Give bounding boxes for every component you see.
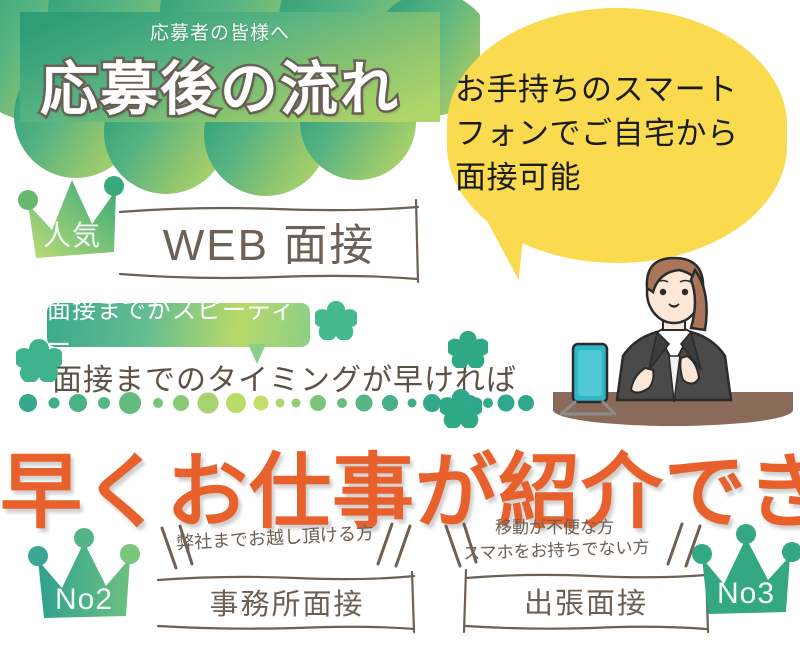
crown-no2: No2 [26,528,142,628]
woman-video-interview-illustration [545,252,800,427]
dotted-divider-right [480,390,540,414]
flower-icon [315,300,357,340]
visit-interview-box: 出張面接 [462,570,710,632]
office-interview-box: 事務所面接 [156,572,418,632]
bubble-line-2: フォンでご自宅から [455,112,785,156]
flyer-canvas: 応募者の皆様へ 応募後の流れ お手持ちのスマート フォンでご自宅から 面接可能 [0,0,800,636]
web-interview-box: WEB 面接 [116,200,422,282]
visit-interview-label: 出張面接 [524,580,648,622]
speech-bubble-text: お手持ちのスマート フォンでご自宅から 面接可能 [455,68,785,200]
crown-no3: No3 [690,522,800,622]
header-subtitle: 応募者の皆様へ [0,18,440,45]
office-interview-label: 事務所面接 [209,581,364,623]
speedy-tag-label: 面接までがスピーディー [47,290,310,360]
visit-caption-2: スマホをお持ちでない方 [463,533,650,564]
dotted-divider [18,390,488,414]
bubble-line-3: 面接可能 [455,156,785,200]
web-interview-label: WEB 面接 [163,209,375,273]
page-title: 応募後の流れ [0,42,440,126]
flower-icon [448,330,488,368]
speedy-tag: 面接までがスピーディー [47,303,310,347]
flower-icon [16,338,62,382]
crown-popular: 人気 [14,168,130,268]
bubble-line-1: お手持ちのスマート [455,68,785,112]
slash-marks-left-end [370,518,418,576]
